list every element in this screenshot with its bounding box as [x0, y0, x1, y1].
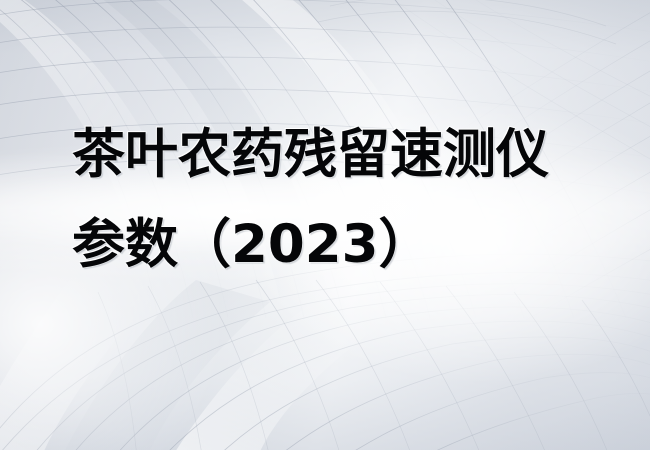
- product-title-banner: 茶叶农药残留速测仪 参数（2023）: [0, 0, 650, 450]
- mesh-top-arc: [318, 0, 616, 44]
- banner-title-block: 茶叶农药残留速测仪 参数（2023）: [72, 128, 592, 284]
- mesh-band-group-bottom: [0, 276, 400, 450]
- page-title-line-2: 参数（2023）: [72, 218, 592, 284]
- page-title-line-1: 茶叶农药残留速测仪: [72, 128, 592, 194]
- mesh-crosslines-lower: [98, 280, 650, 450]
